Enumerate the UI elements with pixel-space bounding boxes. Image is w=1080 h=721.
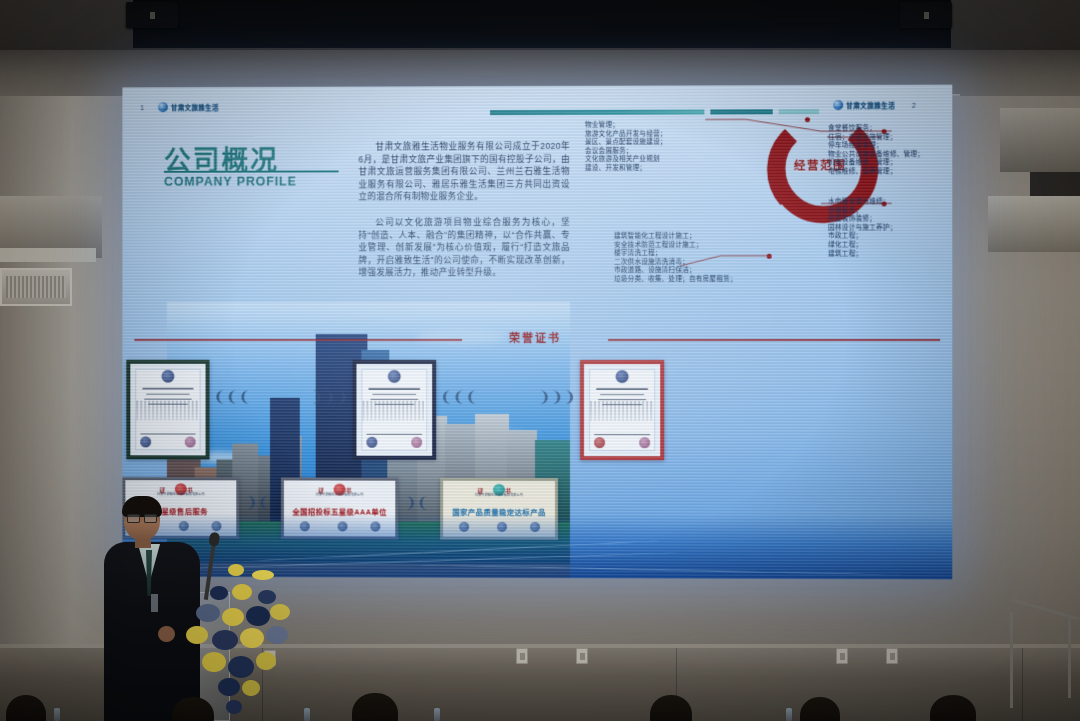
scope-list-bottom-left: 建筑智能化工程设计施工； 安全技术防范工程设计施工； 楼宇清洗工程； 二次供水设…	[614, 233, 775, 285]
scope-list-top-left: 物业管理； 旅游文化产品开发与经营； 景区、景点配套设施建设； 会议会展服务； …	[585, 122, 705, 174]
title-underline	[164, 170, 339, 172]
presenter-glasses-icon	[127, 514, 157, 521]
wall-outlet[interactable]	[576, 648, 588, 664]
page-title-en: COMPANY PROFILE	[164, 175, 297, 189]
header-rule-primary	[490, 109, 704, 115]
conference-room-scene: 1 甘肃文旅雅生活 甘肃文旅雅生活 2 公司概况 COMPANY PROFILE	[0, 0, 1080, 721]
scope-list-top-right: 食堂餐饮服务； 住宿；市政设施管理； 停车场经营管理； 物业公共设施设备维修、管…	[828, 125, 952, 177]
left-wall-ledge-lip	[0, 248, 96, 262]
certificate-row-1: ❨❨❨ ❩❩❩ ❨❨❨ ❩❩❩	[122, 360, 952, 471]
company-paragraph-1: 甘肃文旅雅生活物业服务有限公司成立于2020年6月，是甘肃文旅产业集团旗下的国有…	[358, 140, 570, 203]
slide-company-profile: 1 甘肃文旅雅生活 甘肃文旅雅生活 2 公司概况 COMPANY PROFILE	[122, 85, 952, 580]
scope-list-bottom-right: 水电暖安装与维修； 供暖服务； 房屋装饰装修； 园林设计与施工养护； 市政工程；…	[828, 198, 952, 259]
presenter-lanyard	[151, 594, 158, 612]
audience-row	[0, 672, 1080, 721]
certificate-iso-navy[interactable]	[352, 360, 436, 460]
company-paragraph-2: 公司以文化旅游项目物业综合服务为核心，坚持“创造、人本、融合”的集团精神，以“合…	[358, 216, 570, 279]
wall-outlet[interactable]	[836, 648, 848, 664]
wall-outlet[interactable]	[886, 648, 898, 664]
ceiling-soffit	[133, 0, 951, 48]
honors-header: 荣誉证书	[134, 330, 940, 360]
page-number-left: 1	[140, 105, 144, 112]
brand-logo-left: 甘肃文旅雅生活	[158, 102, 219, 112]
brand-logo-right: 甘肃文旅雅生活	[833, 100, 895, 110]
projection-screen: 1 甘肃文旅雅生活 甘肃文旅雅生活 2 公司概况 COMPANY PROFILE	[122, 85, 952, 580]
logo-mark-icon	[833, 100, 843, 110]
ceiling-speaker-right	[900, 2, 952, 28]
scope-node-dot	[805, 117, 810, 122]
right-wall-upper-ledge	[1000, 108, 1080, 172]
right-wall-ledge	[988, 196, 1080, 252]
certificate-iso-green[interactable]	[126, 360, 209, 460]
page-number-right: 2	[912, 103, 916, 110]
wall-outlet[interactable]	[516, 648, 528, 664]
logo-mark-icon	[158, 102, 168, 112]
certificate-iso-red[interactable]	[580, 360, 664, 460]
logo-wordmark: 甘肃文旅雅生活	[846, 100, 895, 110]
honors-title: 荣誉证书	[501, 330, 569, 346]
ceiling-speaker-left	[126, 2, 178, 28]
logo-wordmark: 甘肃文旅雅生活	[171, 102, 219, 112]
air-vent	[0, 268, 72, 306]
